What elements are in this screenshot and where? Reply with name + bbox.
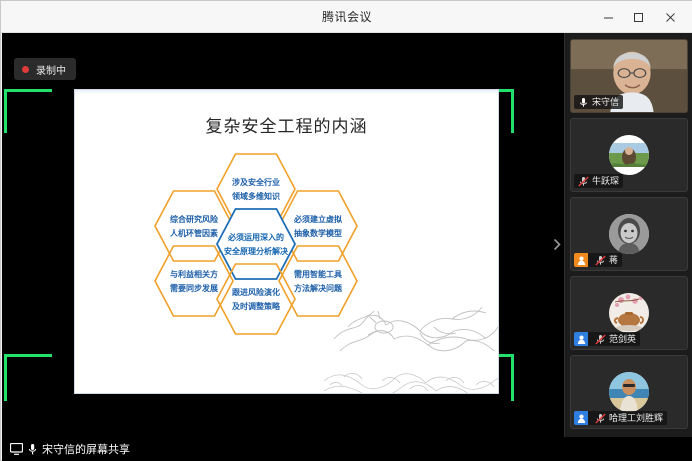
mic-on-icon xyxy=(28,443,37,456)
window-title: 腾讯会议 xyxy=(1,1,692,33)
hexagon-line-1: 综合研究风险 xyxy=(170,214,218,225)
shared-screen-area[interactable]: 录制中 复杂安全工程的内涵 xyxy=(2,33,564,437)
hexagon-line-2: 需要同步发展 xyxy=(170,283,218,294)
hexagon-line-1: 必须建立虚拟 xyxy=(294,214,342,225)
hexagon-shape-orange xyxy=(215,262,297,336)
avatar xyxy=(609,214,649,254)
hexagon-line-2: 领域多维知识 xyxy=(232,191,280,202)
participant-name: 范剑英 xyxy=(609,332,636,346)
share-status-label: 宋守信的屏幕共享 xyxy=(42,441,130,457)
participant-name: 蒋 xyxy=(609,253,618,267)
hexagon-line-1: 必须运用深入的 xyxy=(228,232,284,243)
minimize-icon xyxy=(603,12,614,23)
hexagon-diagram: 涉及安全行业 领域多维知识 综合研究风险 人机环管因素 xyxy=(127,152,387,332)
mic-muted-icon xyxy=(577,176,589,187)
meeting-stage: 录制中 复杂安全工程的内涵 xyxy=(2,33,692,461)
participant-tile[interactable]: 宋守信 xyxy=(570,39,688,113)
collapse-sidebar-button[interactable] xyxy=(550,229,564,259)
participant-tile[interactable]: 牛跃琛 xyxy=(570,118,688,192)
recording-indicator[interactable]: 录制中 xyxy=(14,58,76,80)
hexagon-line-1: 跟进风险演化 xyxy=(232,287,280,298)
hexagon-line-2: 方法解决问题 xyxy=(294,283,342,294)
participant-tile[interactable]: 蒋 xyxy=(570,197,688,271)
participant-namebar: 牛跃琛 xyxy=(574,174,623,188)
hexagon-line-2: 人机环管因素 xyxy=(170,228,218,239)
minimize-button[interactable] xyxy=(593,1,623,33)
mic-on-icon xyxy=(577,97,589,108)
maximize-button[interactable] xyxy=(623,1,653,33)
participant-tile[interactable]: 范剑英 xyxy=(570,276,688,350)
avatar xyxy=(609,372,649,412)
slide-top-stripe xyxy=(75,90,498,94)
cohost-badge-icon xyxy=(574,411,588,425)
monitor-icon xyxy=(10,443,23,455)
mic-muted-icon xyxy=(594,255,606,266)
chevron-right-icon xyxy=(553,238,561,251)
hexagon-bottom: 跟进风险演化 及时调整策略 xyxy=(215,262,297,336)
mic-muted-icon xyxy=(594,334,606,345)
close-icon xyxy=(665,12,676,23)
participant-sidebar[interactable]: 宋守信 xyxy=(564,33,692,437)
tencent-meeting-window: 腾讯会议 录制 xyxy=(0,0,692,461)
participant-name: 哈理工刘胜辉 xyxy=(609,411,663,425)
recording-dot-icon xyxy=(22,66,29,73)
presentation-slide: 复杂安全工程的内涵 xyxy=(74,89,499,394)
maximize-icon xyxy=(633,12,644,23)
participant-namebar: 宋守信 xyxy=(574,95,623,109)
participant-name: 宋守信 xyxy=(592,95,619,109)
hexagon-line-2: 及时调整策略 xyxy=(232,301,280,312)
participant-namebar: 蒋 xyxy=(574,253,622,267)
avatar xyxy=(609,293,649,333)
mic-muted-icon xyxy=(594,413,606,424)
host-badge-icon xyxy=(574,253,588,267)
slide-title: 复杂安全工程的内涵 xyxy=(75,112,498,137)
window-titlebar: 腾讯会议 xyxy=(1,1,692,33)
hexagon-line-1: 涉及安全行业 xyxy=(232,177,280,188)
hexagon-line-2: 安全原理分析解决 xyxy=(224,246,288,257)
avatar xyxy=(609,135,649,175)
screen-share-status-bar: 宋守信的屏幕共享 xyxy=(2,437,692,461)
participant-namebar: 范剑英 xyxy=(574,332,640,346)
hexagon-line-1: 需用智能工具 xyxy=(294,269,342,280)
hexagon-line-1: 与利益相关方 xyxy=(170,269,218,280)
participant-namebar: 哈理工刘胜辉 xyxy=(574,411,667,425)
cohost-badge-icon xyxy=(574,332,588,346)
recording-label: 录制中 xyxy=(36,62,66,77)
participant-tile[interactable]: 哈理工刘胜辉 xyxy=(570,355,688,429)
close-button[interactable] xyxy=(655,1,685,33)
participant-name: 牛跃琛 xyxy=(592,174,619,188)
hexagon-line-2: 抽象数学模型 xyxy=(294,228,342,239)
